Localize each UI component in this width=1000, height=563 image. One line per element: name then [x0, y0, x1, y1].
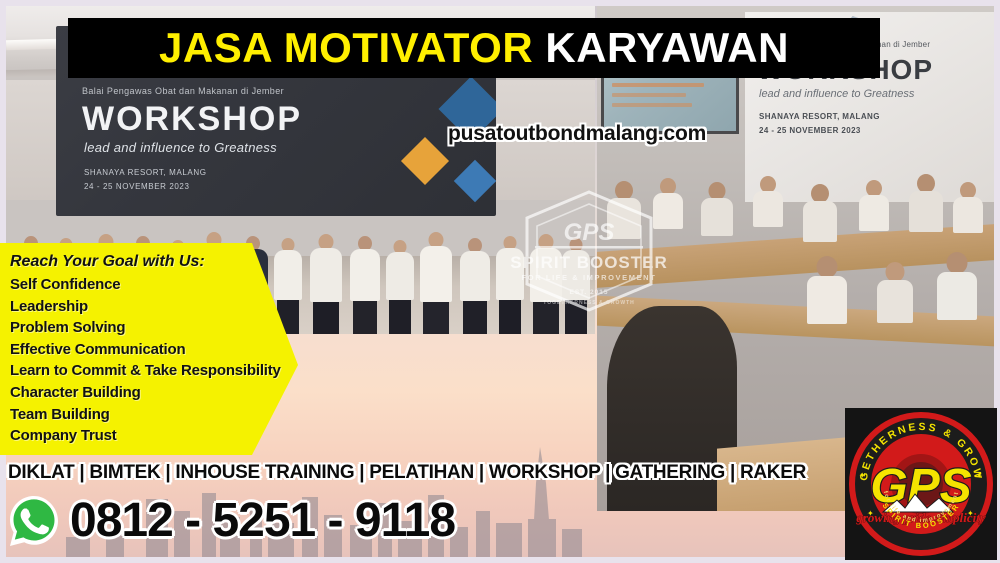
benefit-item: Effective Communication — [10, 339, 305, 361]
person-figure — [350, 236, 380, 334]
benefit-item: Character Building — [10, 382, 305, 404]
watermark-established: EST. 2015 — [570, 289, 609, 296]
benefits-panel: Reach Your Goal with Us: Self Confidence… — [0, 243, 305, 455]
benefit-item: Team Building — [10, 404, 305, 426]
watermark-monogram: GPS — [564, 219, 615, 246]
benefit-item: Self Confidence — [10, 274, 305, 296]
benefit-item: Leadership — [10, 296, 305, 318]
benefit-item: Problem Solving — [10, 317, 305, 339]
svg-text:✦: ✦ — [976, 471, 983, 480]
attendee-figure — [909, 174, 943, 232]
attendee-figure — [701, 182, 733, 236]
benefits-list: Self ConfidenceLeadershipProblem Solving… — [10, 274, 305, 447]
benefit-item: Learn to Commit & Take Responsibility — [10, 360, 305, 382]
person-figure — [310, 234, 342, 334]
attendee-figure — [877, 262, 913, 323]
website-url[interactable]: pusatoutbondmalang.com — [448, 122, 706, 146]
contact-row[interactable]: 0812 - 5251 - 9118 — [8, 495, 455, 547]
attendee-figure — [753, 176, 783, 227]
phone-number[interactable]: 0812 - 5251 - 9118 — [70, 497, 455, 545]
person-figure — [386, 240, 414, 334]
svg-text:✦: ✦ — [859, 471, 866, 480]
backdrop-subtitle: lead and influence to Greatness — [84, 140, 277, 155]
gps-logo: TOGETHERNESS & GROWTH ✦✦ ✦✦ GPS growing … — [845, 408, 997, 560]
backdrop-venue: SHANAYA RESORT, MALANG — [84, 168, 207, 177]
backdrop-organization: Balai Pengawas Obat dan Makanan di Jembe… — [82, 86, 284, 96]
whatsapp-icon[interactable] — [8, 495, 60, 547]
spirit-booster-watermark: GPS SPIRIT BOOSTER FOR LIFE & IMPROVEMEN… — [497, 188, 681, 314]
attendee-figure — [953, 182, 983, 233]
watermark-footer: TOGETHERNESS & GROWTH — [543, 300, 634, 306]
backdrop-subtitle-right: lead and influence to Greatness — [759, 88, 914, 100]
person-figure — [460, 238, 490, 334]
attendee-figure — [859, 180, 889, 231]
attendee-figure — [803, 184, 837, 242]
services-line: DIKLAT | BIMTEK | INHOUSE TRAINING | PEL… — [8, 462, 806, 484]
backdrop-title: WORKSHOP — [82, 100, 302, 139]
header-title-rest: KARYAWAN — [545, 24, 789, 71]
header-title-highlight: JASA MOTIVATOR — [159, 24, 533, 71]
backdrop-venue-right: SHANAYA RESORT, MALANG — [759, 112, 880, 121]
backdrop-date-right: 24 - 25 NOVEMBER 2023 — [759, 126, 861, 135]
attendee-figure — [807, 256, 847, 324]
header-banner: JASA MOTIVATOR KARYAWAN — [68, 18, 880, 78]
backdrop-date: 24 - 25 NOVEMBER 2023 — [84, 182, 190, 191]
attendee-figure — [937, 252, 977, 320]
person-figure — [420, 232, 452, 334]
watermark-name: SPIRIT BOOSTER — [510, 253, 668, 272]
watermark-tagline: FOR LIFE & IMPROVEMENT — [522, 273, 657, 282]
promotional-banner: Balai Pengawas Obat dan Makanan di Jembe… — [0, 0, 1000, 563]
